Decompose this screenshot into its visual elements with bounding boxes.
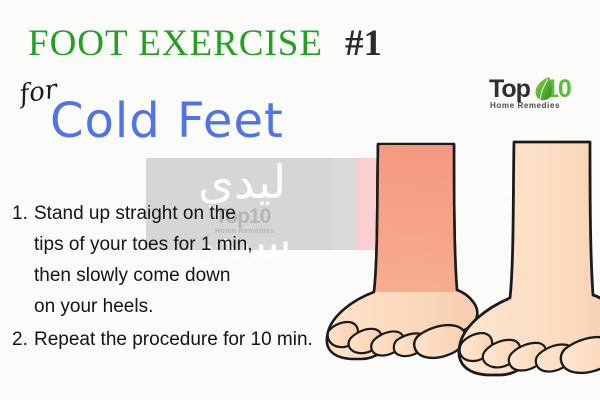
brand-logo-top: Top 10 — [489, 76, 589, 102]
right-foot — [459, 142, 600, 375]
list-item: 1. Stand up straight on the tips of your… — [12, 198, 342, 322]
list-item: 2. Repeat the procedure for 10 min. — [12, 324, 342, 355]
title-number: #1 — [345, 23, 382, 64]
step-line: then slowly come down — [34, 260, 342, 291]
title-main-text: FOOT EXERCISE — [28, 23, 323, 64]
feet-illustration — [318, 140, 600, 395]
brand-tagline: Home Remedies — [490, 101, 560, 111]
left-ankle-highlight — [374, 140, 456, 292]
instruction-list: 1. Stand up straight on the tips of your… — [12, 198, 342, 357]
step-line: tips of your toes for 1 min, — [34, 229, 342, 260]
poster-canvas: ليدي سيدر Top10 Home Remedies — [0, 0, 600, 400]
step-line: on your heels. — [34, 291, 342, 322]
brand-logo[interactable]: Top 10 Home Remedies — [489, 76, 589, 116]
step-number: 1. — [12, 198, 34, 229]
subject-title: Cold Feet — [50, 94, 284, 148]
step-text: Stand up straight on the tips of your to… — [34, 198, 342, 322]
brand-word: Top — [489, 76, 530, 102]
step-line: Repeat the procedure for 10 min. — [34, 324, 342, 355]
step-line: Stand up straight on the — [34, 198, 342, 229]
step-number: 2. — [12, 324, 34, 355]
step-text: Repeat the procedure for 10 min. — [34, 324, 342, 355]
page-title: FOOT EXERCISE#1 — [28, 22, 382, 66]
left-foot — [327, 140, 478, 359]
